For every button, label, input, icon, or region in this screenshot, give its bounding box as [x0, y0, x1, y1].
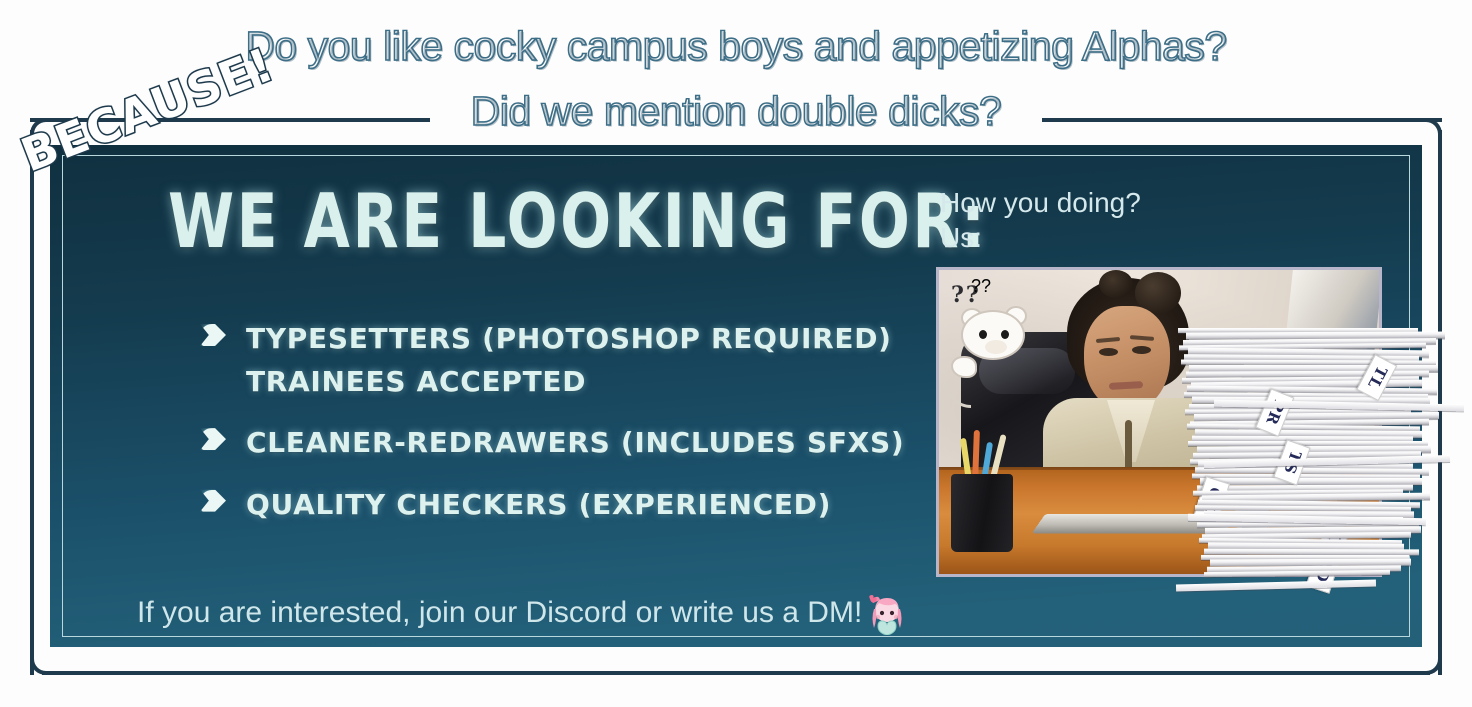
paper-stack: TL PR TS QC CLRD: [1182, 340, 1432, 580]
photo-woman-eye-left: [1099, 348, 1118, 356]
white-bear-icon: [1001, 330, 1009, 339]
frame-bottom-edge: [42, 671, 1430, 675]
list-item: QUALITY CHECKERS (EXPERIENCED): [200, 484, 920, 527]
call-to-action-text: If you are interested, join our Discord …: [137, 596, 862, 630]
frame-top-right-segment: [1042, 118, 1442, 122]
white-bear-icon: [985, 340, 1007, 354]
bullet-arrow-icon: [200, 490, 226, 512]
call-to-action: If you are interested, join our Discord …: [137, 593, 906, 633]
photo-woman-eye-right: [1132, 346, 1151, 354]
list-item: TYPESETTERS (PHOTOSHOP REQUIRED) TRAINEE…: [200, 318, 920, 403]
role-label: QUALITY CHECKERS (EXPERIENCED): [246, 488, 831, 521]
photo-pen-cup: [951, 474, 1013, 552]
paper-sheet: [1204, 570, 1390, 577]
list-item: CLEANER-REDRAWERS (INCLUDES SFXS): [200, 422, 920, 465]
poster-canvas: Do you like cocky campus boys and appeti…: [0, 0, 1472, 707]
frame-left-edge: [30, 130, 34, 675]
frame-right-edge: [1438, 130, 1442, 675]
right-caption-us: Us:: [940, 220, 1410, 255]
roles-list: TYPESETTERS (PHOTOSHOP REQUIRED) TRAINEE…: [200, 318, 920, 545]
role-label: CLEANER-REDRAWERS (INCLUDES SFXS): [246, 426, 904, 459]
right-content-column: How you doing? Us:: [940, 185, 1410, 255]
bullet-arrow-icon: [200, 324, 226, 346]
question-marks-icon: ??: [971, 276, 991, 297]
white-bear-icon: [979, 330, 987, 339]
bullet-arrow-icon: [200, 428, 226, 450]
photo-woman-face: [1084, 306, 1170, 412]
white-bear-icon: [951, 356, 977, 378]
photo-woman-bun-left: [1099, 270, 1133, 298]
role-label: TYPESETTERS (PHOTOSHOP REQUIRED) TRAINEE…: [246, 322, 892, 398]
page-title: WE ARE LOOKING FOR:: [90, 178, 890, 266]
pink-haired-chibi-icon: [868, 595, 906, 635]
right-caption-question: How you doing?: [940, 185, 1410, 220]
left-content-column: WE ARE LOOKING FOR: TYPESETTERS (PHOTOSH…: [90, 178, 890, 248]
